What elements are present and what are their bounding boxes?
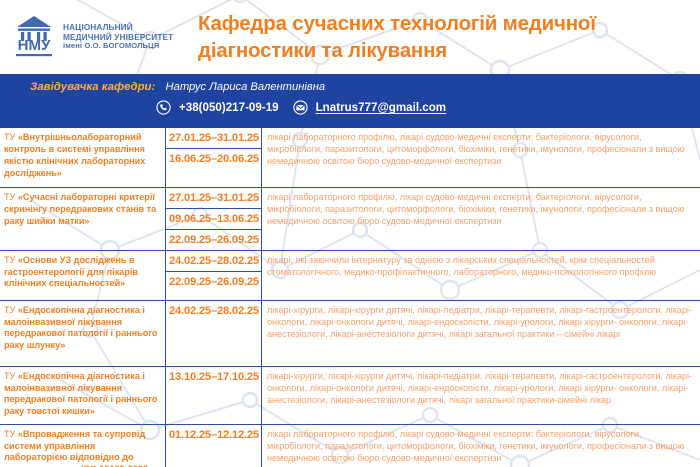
course-audience-cell: лікарі лабораторного профілю, лікарі суд…: [262, 128, 700, 187]
slide-page: НМУ НАЦІОНАЛЬНИЙ МЕДИЧНИЙ УНІВЕРСИТЕТ ім…: [0, 0, 700, 467]
course-name-cell: ТУ «Впровадження та супровід системи упр…: [0, 425, 166, 467]
chair-line: Завідувачка кафедри: Натрус Лариса Вален…: [0, 80, 700, 94]
course-date: 01.12.25–12.12.25: [166, 425, 261, 445]
course-dates-cell: 24.02.25–28.02.25: [166, 301, 262, 366]
course-audience-cell: лікарі лабораторного профілю, лікарі суд…: [262, 188, 700, 250]
course-name-cell: ТУ «Ендоскопічна діагностика і малоінваз…: [0, 301, 166, 366]
table-row: ТУ «Ендоскопічна діагностика і малоінваз…: [0, 301, 700, 367]
course-date: 27.01.25–31.01.25: [166, 188, 261, 209]
university-logo: НМУ НАЦІОНАЛЬНИЙ МЕДИЧНИЙ УНІВЕРСИТЕТ ім…: [12, 14, 190, 60]
phone-number[interactable]: +38(050)217-09-19: [179, 101, 279, 114]
course-audience-cell: лікарі-хірурги, лікарі-хірурги дитячі, л…: [262, 301, 700, 366]
course-date: 13.10.25–17.10.25: [166, 367, 261, 387]
course-name-cell: ТУ «Основи УЗ досліджень в гастроентерол…: [0, 251, 166, 300]
course-date: 24.02.25–28.02.25: [166, 301, 261, 321]
course-name-cell: ТУ «Внутрішньолабораторний контроль в си…: [0, 128, 166, 187]
course-dates-cell: 27.01.25–31.01.25 09.06.25–13.06.25 22.0…: [166, 188, 262, 250]
course-prefix: ТУ: [4, 132, 18, 142]
page-title: Кафедра сучасних технологій медичної діа…: [190, 10, 700, 65]
svg-text:НМУ: НМУ: [18, 37, 51, 54]
logo-line-3: імені О.О. БОГОМОЛЬЦЯ: [63, 42, 173, 51]
contact-bar: Завідувачка кафедри: Натрус Лариса Вален…: [0, 74, 700, 128]
course-name-cell: ТУ «Сучасні лабораторні критерії скринін…: [0, 188, 166, 250]
course-prefix: ТУ: [4, 371, 18, 381]
course-prefix: ТУ: [4, 305, 18, 315]
course-prefix: ТУ: [4, 192, 18, 202]
course-title: «Ендоскопічна діагностика і малоінвазивн…: [4, 371, 157, 417]
contact-details: +38(050)217-09-19 Lnatrus777@gmail.com: [0, 100, 700, 115]
course-title: «Внутрішньолабораторний контроль в систе…: [4, 132, 145, 178]
course-date: 16.06.25–20.06.25: [166, 149, 261, 169]
courses-table: ТУ «Внутрішньолабораторний контроль в си…: [0, 128, 700, 467]
course-prefix: ТУ: [4, 429, 18, 439]
course-audience-cell: лікарі, які закінчили інтернатуру за одн…: [262, 251, 700, 300]
course-name-cell: ТУ «Ендоскопічна діагностика і малоінваз…: [0, 367, 166, 424]
table-row: ТУ «Внутрішньолабораторний контроль в си…: [0, 128, 700, 188]
table-row: ТУ «Ендоскопічна діагностика і малоінваз…: [0, 367, 700, 425]
course-dates-cell: 01.12.25–12.12.25: [166, 425, 262, 467]
email-link[interactable]: Lnatrus777@gmail.com: [316, 101, 447, 114]
course-title: «Ендоскопічна діагностика і малоінвазивн…: [4, 305, 157, 351]
chair-label: Завідувачка кафедри:: [30, 81, 155, 93]
course-title: «Впровадження та супровід системи управл…: [4, 429, 153, 467]
page-header: НМУ НАЦІОНАЛЬНИЙ МЕДИЧНИЙ УНІВЕРСИТЕТ ім…: [0, 0, 700, 74]
nmu-building-logo-icon: НМУ: [12, 14, 56, 60]
course-dates-cell: 13.10.25–17.10.25: [166, 367, 262, 424]
chair-name: Натрус Лариса Валентинівна: [166, 81, 326, 93]
table-row: ТУ «Сучасні лабораторні критерії скринін…: [0, 188, 700, 251]
course-title: «Основи УЗ досліджень в гастроентерологі…: [4, 255, 138, 289]
course-date: 24.02.25–28.02.25: [166, 251, 261, 272]
phone-icon: [156, 100, 171, 115]
course-audience-cell: лікарі-хірурги, лікарі-хірурги дитячі, л…: [262, 367, 700, 424]
table-row: ТУ «Впровадження та супровід системи упр…: [0, 425, 700, 467]
course-date: 22.09.25–26.09.25: [166, 272, 261, 292]
course-audience-cell: лікарі лабораторного профілю, лікарі суд…: [262, 425, 700, 467]
course-dates-cell: 27.01.25–31.01.25 16.06.25–20.06.25: [166, 128, 262, 187]
course-date: 22.09.25–26.09.25: [166, 230, 261, 250]
course-title: «Сучасні лабораторні критерії скринінгу …: [4, 192, 156, 226]
envelope-icon: [293, 100, 308, 115]
course-dates-cell: 24.02.25–28.02.25 22.09.25–26.09.25: [166, 251, 262, 300]
course-date: 27.01.25–31.01.25: [166, 128, 261, 149]
table-row: ТУ «Основи УЗ досліджень в гастроентерол…: [0, 251, 700, 301]
course-date: 09.06.25–13.06.25: [166, 209, 261, 230]
course-prefix: ТУ: [4, 255, 18, 265]
